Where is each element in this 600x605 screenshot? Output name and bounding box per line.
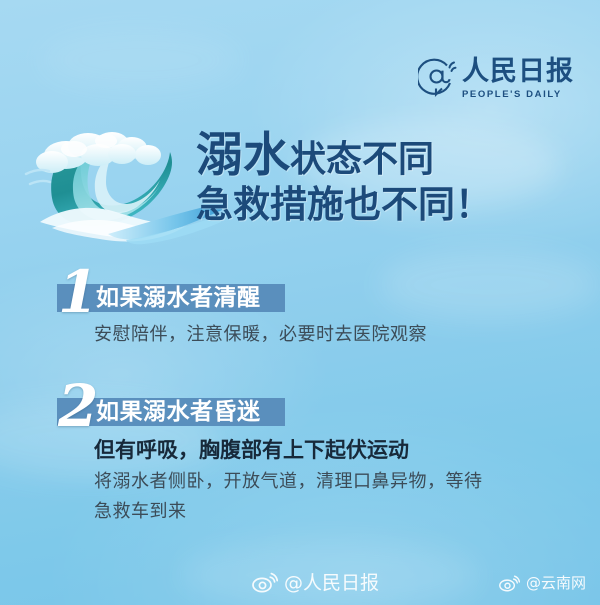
tip-2-header: 2 如果溺水者昏迷 bbox=[0, 385, 600, 431]
weibo-icon bbox=[499, 574, 520, 592]
brand-name-cn: 人民日报 bbox=[462, 58, 574, 85]
tip-2-title: 如果溺水者昏迷 bbox=[96, 399, 261, 425]
tip-2-subtitle: 但有呼吸，胸腹部有上下起伏运动 bbox=[94, 436, 600, 464]
page-title-line-1-rest: 状态不同 bbox=[290, 141, 434, 179]
weibo-handle-secondary: @云南网 bbox=[526, 572, 586, 593]
tip-1-header: 1 如果溺水者清醒 bbox=[0, 271, 600, 317]
poster-canvas: 人民日报 PEOPLE'S DAILY bbox=[0, 0, 600, 605]
tip-1-title: 如果溺水者清醒 bbox=[96, 285, 261, 311]
brand-text: 人民日报 PEOPLE'S DAILY bbox=[462, 58, 574, 100]
weibo-icon bbox=[252, 571, 278, 593]
at-speech-bubble-icon bbox=[418, 58, 458, 100]
page-title-line-1: 溺水 状态不同 bbox=[196, 131, 492, 181]
weibo-credit-primary: @人民日报 bbox=[252, 568, 379, 595]
tip-1-number: 1 bbox=[58, 263, 98, 321]
brand-name-en: PEOPLE'S DAILY bbox=[462, 89, 574, 100]
tip-2-body: 将溺水者侧卧，开放气道，清理口鼻异物，等待急救车到来 bbox=[94, 467, 494, 527]
page-title: 溺水 状态不同 急救措施也不同！ bbox=[196, 131, 492, 224]
tip-section-2: 2 如果溺水者昏迷 但有呼吸，胸腹部有上下起伏运动 将溺水者侧卧，开放气道，清理… bbox=[0, 385, 600, 527]
weibo-credit-secondary: @云南网 bbox=[499, 572, 586, 593]
tip-2-number: 2 bbox=[58, 377, 98, 435]
page-title-line-2: 急救措施也不同！ bbox=[196, 185, 492, 224]
tip-1-body: 安慰陪伴，注意保暖，必要时去医院观察 bbox=[94, 320, 494, 350]
cloud-wisp bbox=[40, 30, 240, 90]
tip-section-1: 1 如果溺水者清醒 安慰陪伴，注意保暖，必要时去医院观察 bbox=[0, 271, 600, 350]
weibo-handle-primary: @人民日报 bbox=[284, 568, 379, 595]
page-title-keyword: 溺水 bbox=[196, 131, 290, 181]
brand-logo: 人民日报 PEOPLE'S DAILY bbox=[418, 58, 574, 100]
ocean-wave-icon bbox=[22, 122, 222, 248]
